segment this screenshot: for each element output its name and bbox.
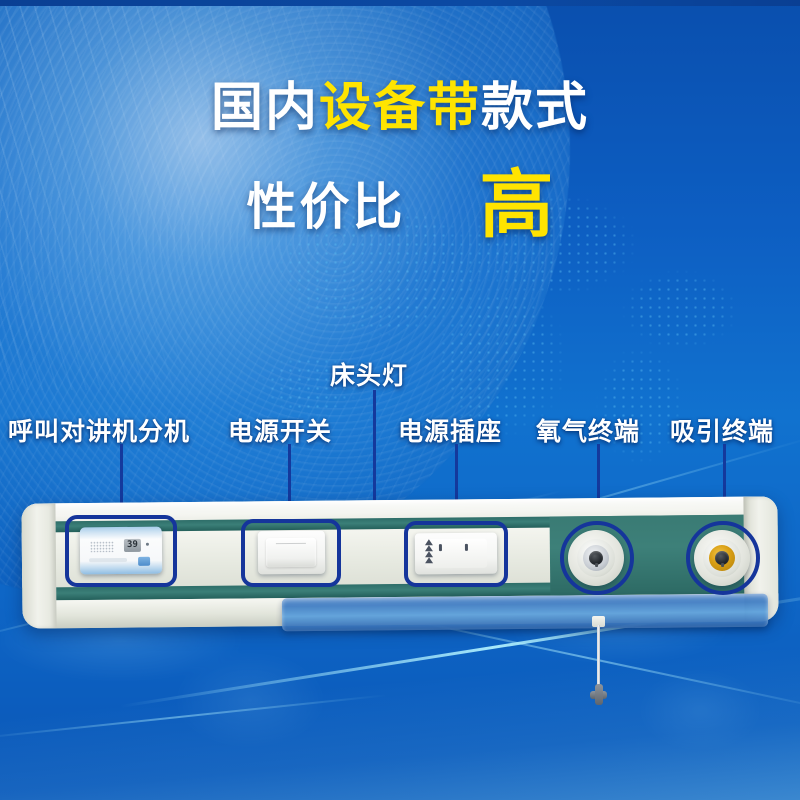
highlight-circle-oxygen bbox=[560, 521, 634, 595]
headline-accent: 设备带 bbox=[319, 79, 481, 137]
callout-intercom: 呼叫对讲机分机 bbox=[8, 412, 190, 448]
highlight-box-power-socket bbox=[404, 521, 508, 587]
callout-bed-lamp: 床头灯 bbox=[330, 356, 408, 392]
headline-part2: 款式 bbox=[481, 79, 589, 137]
bottom-light-gleam bbox=[0, 650, 800, 800]
highlight-box-power-switch bbox=[241, 519, 341, 587]
top-edge-bar bbox=[0, 0, 800, 6]
cord-plug-icon[interactable] bbox=[586, 682, 611, 707]
highlight-box-intercom bbox=[65, 515, 177, 587]
subheadline: 性价比高 bbox=[0, 168, 800, 242]
product-banner: 国内设备带款式 性价比高 呼叫对讲机分机 电源开关 床头灯 电源插座 氧气终端 … bbox=[0, 0, 800, 800]
unit-end-cap-left bbox=[21, 503, 56, 628]
callout-suction-terminal: 吸引终端 bbox=[670, 412, 774, 448]
headline-part1: 国内 bbox=[211, 79, 319, 137]
subheadline-main: 性价比 bbox=[247, 179, 406, 235]
headline: 国内设备带款式 bbox=[0, 82, 800, 134]
lamp-diffuser-rail bbox=[282, 594, 768, 632]
subheadline-accent: 高 bbox=[480, 163, 554, 246]
highlight-circle-suction bbox=[686, 521, 760, 595]
pull-cord-icon[interactable] bbox=[597, 625, 600, 687]
callout-power-switch: 电源开关 bbox=[228, 412, 332, 448]
callout-oxygen-terminal: 氧气终端 bbox=[536, 412, 640, 448]
callout-power-socket: 电源插座 bbox=[398, 412, 502, 448]
